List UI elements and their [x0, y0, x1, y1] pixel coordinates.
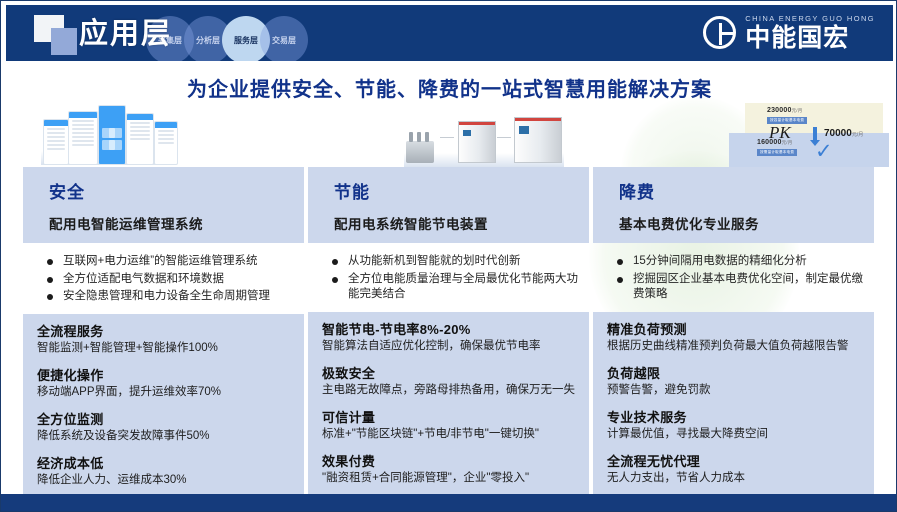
detail-body: 降低系统及设备突发故障事件50%	[37, 429, 294, 444]
bullet-list-safety: 互联网+电力运维”的智能运维管理系统 全方位适配电气数据和环境数据 安全隐患管理…	[23, 254, 304, 305]
bullet-list-energy-saving: 从功能新机到智能就的划时代创新 全方位电能质量治理与全局最优化节能两大功能完美结…	[308, 254, 589, 303]
pk-bottom-tag: 按需量计取基本电费	[757, 149, 797, 156]
list-item: 15分钟间隔用电数据的精细化分析	[617, 254, 868, 270]
detail-item: 全方位监测 降低系统及设备突发故障事件50%	[37, 411, 294, 444]
layer-circle-label: 交易层	[272, 35, 296, 46]
list-item: 全方位适配电气数据和环境数据	[47, 272, 298, 288]
detail-heading: 精准负荷预测	[607, 321, 864, 338]
phone-mockup	[126, 113, 154, 165]
detail-body: "融资租赁+合同能源管理"，企业"零投入"	[322, 471, 579, 486]
slide-header: 采集层 分析层 服务层 交易层 应用层 CHINA ENERGY GUO HON…	[6, 5, 893, 61]
column-energy-saving: 节能 配用电系统智能节电装置 从功能新机到智能就的划时代创新 全方位电能质量治理…	[308, 105, 589, 497]
detail-item: 便捷化操作 移动端APP界面，提升运维效率70%	[37, 367, 294, 400]
company-name-english: CHINA ENERGY GUO HONG	[745, 15, 875, 23]
detail-heading: 可信计量	[322, 409, 579, 426]
phone-mockup-featured	[98, 105, 126, 165]
column-header-band-safety: 安全 配用电智能运维管理系统	[23, 167, 304, 243]
detail-item: 精准负荷预测 根据历史曲线精准预判负荷最大值负荷越限告警	[607, 321, 864, 354]
pk-top-unit: 元/月	[792, 108, 803, 113]
detail-heading: 智能节电-节电率8%-20%	[322, 321, 579, 338]
phone-mockups	[41, 105, 176, 165]
column-artwork-phones	[41, 105, 304, 167]
detail-heading: 极致安全	[322, 365, 579, 382]
detail-item: 经济成本低 降低企业人力、运维成本30%	[37, 455, 294, 488]
pk-band-bottom	[729, 133, 889, 167]
detail-panel-energy-saving: 智能节电-节电率8%-20% 智能算法自适应优化控制，确保最优节电率 极致安全 …	[308, 312, 589, 497]
detail-body: 根据历史曲线精准预判负荷最大值负荷越限告警	[607, 339, 864, 354]
pk-comparison-graphic: 230000元/月 按容量计取基本电费 PK 70000元/月 160000元/…	[729, 103, 889, 169]
list-item: 全方位电能质量治理与全局最优化节能两大功能完美结合	[332, 272, 583, 303]
bullet-list-cost-reduction: 15分钟间隔用电数据的精细化分析 挖掘园区企业基本电费优化空间，制定最优缴费策略	[593, 254, 874, 303]
column-artwork-equipment	[326, 105, 589, 167]
connector-dash	[440, 137, 454, 138]
electrical-cabinet-icon	[458, 121, 496, 163]
detail-heading: 负荷越限	[607, 365, 864, 382]
column-header-band-energy-saving: 节能 配用电系统智能节电装置	[308, 167, 589, 243]
detail-item: 效果付费 "融资租赁+合同能源管理"，企业"零投入"	[322, 453, 579, 486]
column-subtitle: 配用电系统智能节电装置	[334, 213, 589, 233]
column-artwork-pk-comparison: 230000元/月 按容量计取基本电费 PK 70000元/月 160000元/…	[611, 105, 874, 167]
pk-saving-unit: 元/月	[852, 132, 863, 138]
connector-dash	[497, 137, 511, 138]
slide-footer-bar	[1, 494, 897, 511]
column-cost-reduction: 230000元/月 按容量计取基本电费 PK 70000元/月 160000元/…	[593, 105, 874, 497]
detail-body: 主电路无故障点，旁路母排热备用，确保万无一失	[322, 383, 579, 398]
detail-heading: 专业技术服务	[607, 409, 864, 426]
column-safety: 安全 配用电智能运维管理系统 互联网+电力运维”的智能运维管理系统 全方位适配电…	[23, 105, 304, 499]
list-item: 从功能新机到智能就的划时代创新	[332, 254, 583, 270]
check-mark-icon: ✓	[815, 141, 833, 162]
company-logo: CHINA ENERGY GUO HONG 中能国宏	[703, 15, 875, 51]
switchgear-cabinet-icon	[514, 117, 562, 163]
company-logo-text: CHINA ENERGY GUO HONG 中能国宏	[745, 15, 875, 51]
layer-circle-trading[interactable]: 交易层	[260, 16, 308, 61]
detail-item: 全流程无忧代理 无人力支出，节省人力成本	[607, 453, 864, 486]
column-subtitle: 基本电费优化专业服务	[619, 213, 874, 233]
page-title: 为企业提供安全、节能、降费的一站式智慧用能解决方案	[1, 73, 897, 102]
detail-panel-cost-reduction: 精准负荷预测 根据历史曲线精准预判负荷最大值负荷越限告警 负荷越限 预警告警，避…	[593, 312, 874, 497]
pk-top-value: 230000元/月	[767, 107, 802, 114]
list-item: 挖掘园区企业基本电费优化空间，制定最优缴费策略	[617, 272, 868, 303]
detail-body: 无人力支出，节省人力成本	[607, 471, 864, 486]
detail-heading: 便捷化操作	[37, 367, 294, 384]
detail-item: 负荷越限 预警告警，避免罚款	[607, 365, 864, 398]
column-title: 节能	[334, 178, 589, 203]
down-arrow-icon	[813, 127, 817, 140]
detail-heading: 全流程无忧代理	[607, 453, 864, 470]
list-item: 安全隐患管理和电力设备全生命周期管理	[47, 289, 298, 305]
column-subtitle: 配用电智能运维管理系统	[49, 213, 304, 233]
detail-body: 智能算法自适应优化控制，确保最优节电率	[322, 339, 579, 354]
phone-mockup	[43, 119, 69, 165]
column-title: 安全	[49, 178, 304, 203]
pk-saving-number: 70000	[824, 128, 852, 139]
equipment-illustration	[404, 105, 564, 167]
detail-heading: 全流程服务	[37, 323, 294, 340]
transformer-icon	[406, 141, 434, 163]
layer-circle-label: 服务层	[234, 35, 258, 46]
detail-body: 智能监测+智能管理+智能操作100%	[37, 341, 294, 356]
detail-heading: 全方位监测	[37, 411, 294, 428]
detail-body: 降低企业人力、运维成本30%	[37, 473, 294, 488]
pk-top-number: 230000	[767, 107, 792, 114]
company-logo-icon	[703, 16, 736, 49]
company-name-chinese: 中能国宏	[745, 26, 875, 51]
square-blue	[51, 28, 77, 55]
column-header-band-cost-reduction: 降费 基本电费优化专业服务	[593, 167, 874, 243]
detail-panel-safety: 全流程服务 智能监测+智能管理+智能操作100% 便捷化操作 移动端APP界面，…	[23, 314, 304, 499]
detail-item: 可信计量 标准+"节能区块链"+节电/非节电"一键切换"	[322, 409, 579, 442]
pk-bottom-number: 160000	[757, 139, 782, 146]
detail-body: 移动端APP界面，提升运维效率70%	[37, 385, 294, 400]
detail-body: 标准+"节能区块链"+节电/非节电"一键切换"	[322, 427, 579, 442]
pk-saving-value: 70000元/月	[824, 128, 863, 139]
phone-mockup	[154, 121, 178, 165]
phone-mockup	[68, 111, 98, 165]
detail-body: 预警告警，避免罚款	[607, 383, 864, 398]
list-item: 互联网+电力运维”的智能运维管理系统	[47, 254, 298, 270]
detail-heading: 经济成本低	[37, 455, 294, 472]
detail-item: 智能节电-节电率8%-20% 智能算法自适应优化控制，确保最优节电率	[322, 321, 579, 354]
column-title: 降费	[619, 178, 874, 203]
pk-bottom-value: 160000元/月	[757, 139, 792, 146]
detail-item: 专业技术服务 计算最优值，寻找最大降费空间	[607, 409, 864, 442]
detail-body: 计算最优值，寻找最大降费空间	[607, 427, 864, 442]
detail-item: 极致安全 主电路无故障点，旁路母排热备用，确保万无一失	[322, 365, 579, 398]
header-title: 应用层	[79, 14, 172, 54]
detail-heading: 效果付费	[322, 453, 579, 470]
detail-item: 全流程服务 智能监测+智能管理+智能操作100%	[37, 323, 294, 356]
pk-bottom-unit: 元/月	[782, 140, 793, 145]
slide: 采集层 分析层 服务层 交易层 应用层 CHINA ENERGY GUO HON…	[0, 0, 897, 512]
layer-circle-label: 分析层	[196, 35, 220, 46]
